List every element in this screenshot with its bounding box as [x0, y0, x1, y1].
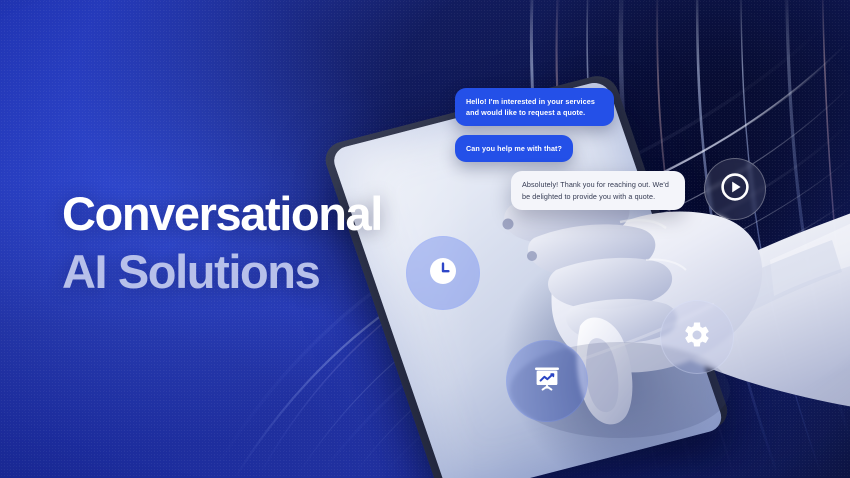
chat-bubble-user-2: Can you help me with that?: [455, 135, 573, 162]
headline-line-2: AI Solutions: [62, 248, 482, 295]
chat-bubble-bot-1: Absolutely! Thank you for reaching out. …: [511, 171, 685, 209]
chart-board-icon: [530, 362, 564, 401]
badge-play[interactable]: [704, 158, 766, 220]
headline-line-1: Conversational: [62, 190, 482, 237]
chat-bubble-user-1: Hello! I'm interested in your services a…: [455, 88, 614, 126]
play-icon: [721, 173, 749, 206]
gear-icon: [682, 320, 712, 355]
badge-settings[interactable]: [660, 300, 734, 374]
chat-conversation: Hello! I'm interested in your services a…: [455, 88, 670, 219]
badge-analytics[interactable]: [506, 340, 588, 422]
page-title: Conversational AI Solutions: [62, 190, 482, 295]
banner-canvas: Conversational AI Solutions Hello! I'm i…: [0, 0, 850, 478]
